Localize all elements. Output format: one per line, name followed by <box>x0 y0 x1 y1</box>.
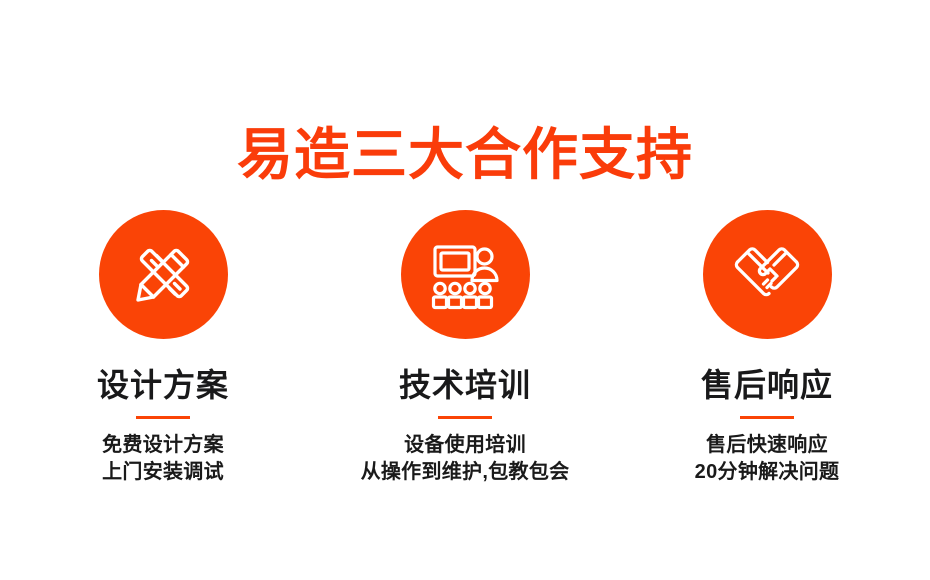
description-line-1: 免费设计方案 <box>102 432 224 459</box>
icon-circle-support <box>703 210 832 339</box>
icon-circle-design <box>99 210 228 339</box>
description-line-1: 设备使用培训 <box>361 432 570 459</box>
page-title: 易造三大合作支持 <box>237 124 693 186</box>
feature-cards: 设计方案 免费设计方案 上门安装调试 <box>0 210 930 486</box>
handshake-icon <box>727 235 807 315</box>
title-divider <box>438 416 492 419</box>
training-presentation-icon <box>426 236 504 314</box>
pencil-ruler-icon <box>124 236 202 314</box>
description-line-1: 售后快速响应 <box>695 432 840 459</box>
description-line-2: 20分钟解决问题 <box>695 459 840 486</box>
feature-card-description: 免费设计方案 上门安装调试 <box>102 432 224 486</box>
description-line-2: 从操作到维护,包教包会 <box>361 459 570 486</box>
title-divider <box>740 416 794 419</box>
feature-card-title: 技术培训 <box>399 367 531 403</box>
feature-card-support: 售后响应 售后快速响应 20分钟解决问题 <box>616 210 918 486</box>
feature-card-training: 技术培训 设备使用培训 从操作到维护,包教包会 <box>314 210 616 486</box>
feature-card-description: 设备使用培训 从操作到维护,包教包会 <box>361 432 570 486</box>
feature-card-design: 设计方案 免费设计方案 上门安装调试 <box>12 210 314 486</box>
icon-circle-training <box>401 210 530 339</box>
feature-card-description: 售后快速响应 20分钟解决问题 <box>695 432 840 486</box>
feature-card-title: 售后响应 <box>701 367 833 403</box>
page-title-container: 易造三大合作支持 <box>0 86 930 223</box>
promo-banner: 易造三大合作支持 <box>0 0 930 580</box>
feature-card-title: 设计方案 <box>97 367 229 403</box>
description-line-2: 上门安装调试 <box>102 459 224 486</box>
title-divider <box>136 416 190 419</box>
